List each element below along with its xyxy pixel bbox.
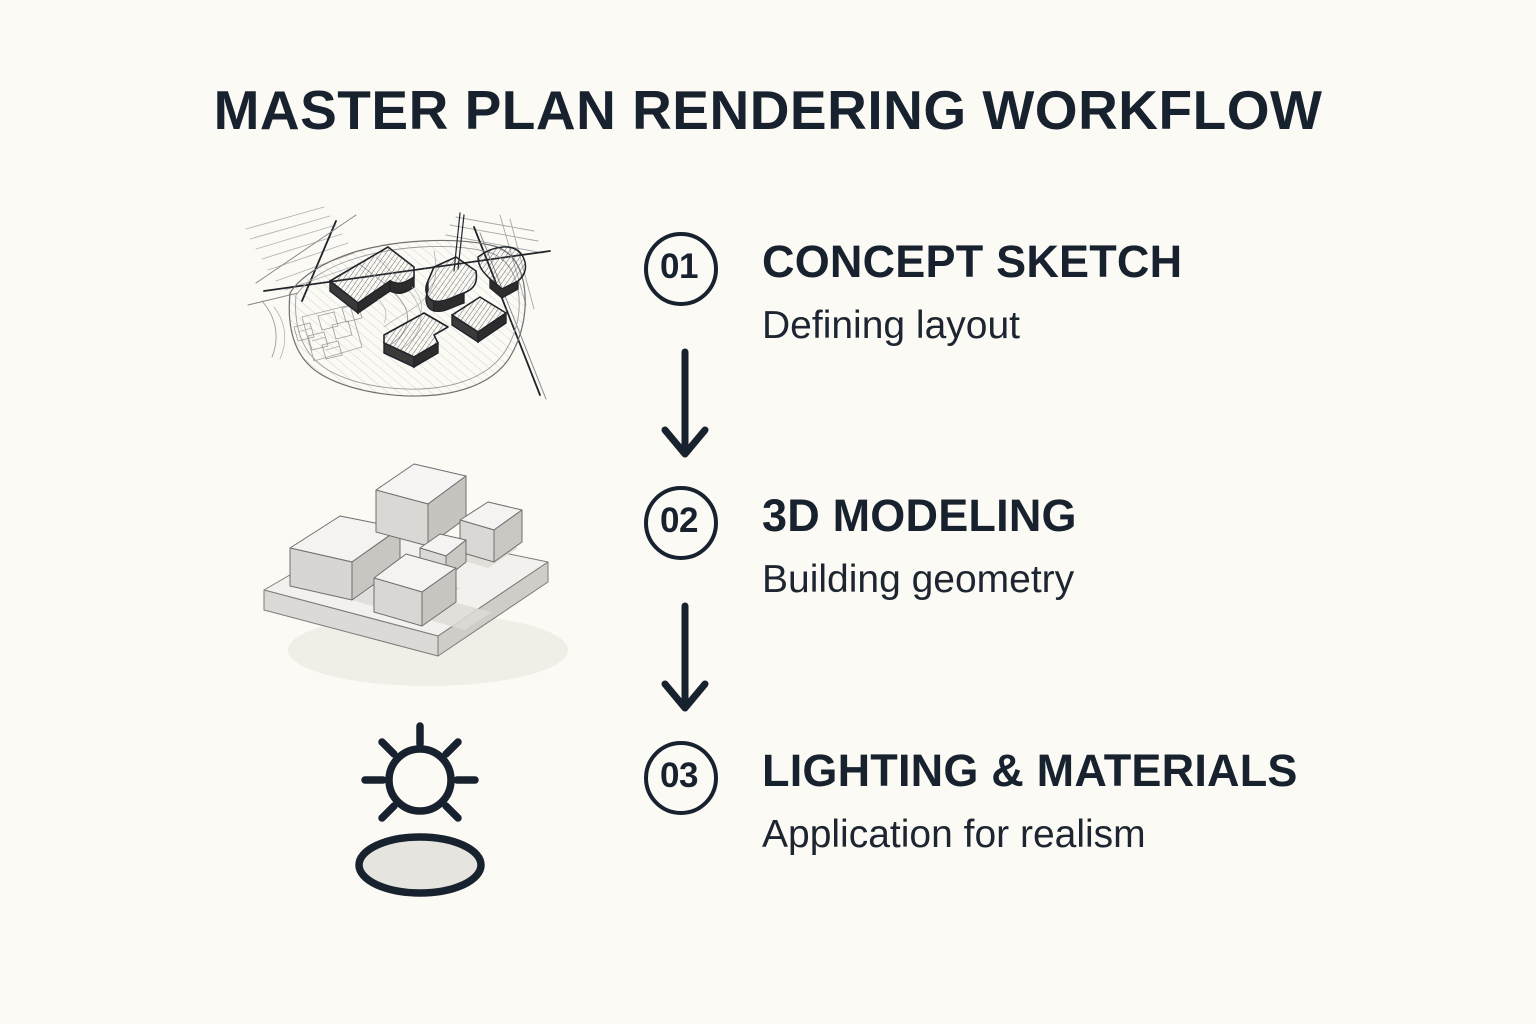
step-subtitle: Defining layout: [762, 304, 1020, 348]
ground-ellipse: [359, 837, 481, 893]
step-heading: LIGHTING & MATERIALS: [762, 745, 1298, 797]
step-number: 03: [644, 741, 714, 811]
massing-model-illustration: [248, 440, 578, 695]
sun-lighting-illustration: [330, 718, 530, 900]
step-badge-2: 02: [640, 482, 722, 564]
workflow-diagram: MASTER PLAN RENDERING WORKFLOW: [0, 0, 1536, 1024]
sun-disc: [389, 749, 451, 811]
step-badge-3: 03: [640, 737, 722, 819]
step-badge-1: 01: [640, 228, 722, 310]
step-number: 01: [644, 232, 714, 302]
page-title: MASTER PLAN RENDERING WORKFLOW: [0, 78, 1536, 142]
step-subtitle: Application for realism: [762, 813, 1146, 857]
step-heading: 3D MODELING: [762, 490, 1077, 542]
step-subtitle: Building geometry: [762, 558, 1074, 602]
arrow-down-icon: [659, 602, 711, 732]
arrow-down-icon: [659, 348, 711, 478]
step-number: 02: [644, 486, 714, 556]
site-plan-sketch-illustration: [238, 185, 568, 415]
step-heading: CONCEPT SKETCH: [762, 236, 1182, 288]
